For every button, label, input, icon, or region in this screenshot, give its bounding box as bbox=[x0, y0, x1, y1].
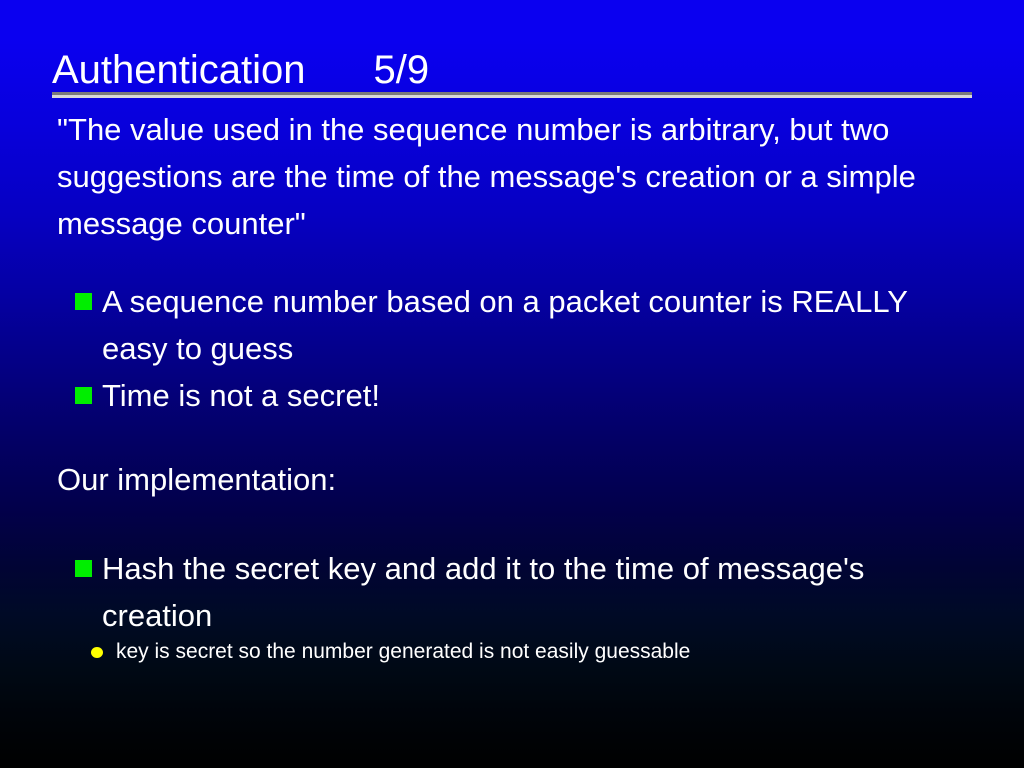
presentation-slide: Authentication 5/9 "The value used in th… bbox=[0, 0, 1024, 768]
list-item-label: key is secret so the number generated is… bbox=[116, 640, 690, 663]
list-item: Time is not a secret! bbox=[60, 372, 940, 419]
list-item: A sequence number based on a packet coun… bbox=[60, 278, 940, 372]
title-divider bbox=[52, 92, 972, 100]
yellow-round-bullet-icon bbox=[91, 647, 103, 658]
list-item: Hash the secret key and add it to the ti… bbox=[60, 545, 960, 639]
bullet-list-implementation: Hash the secret key and add it to the ti… bbox=[60, 545, 960, 639]
slide-title-block: Authentication 5/9 bbox=[52, 48, 972, 92]
section-label: Our implementation: bbox=[57, 458, 336, 502]
list-item-label: A sequence number based on a packet coun… bbox=[102, 278, 940, 372]
divider-bottom-edge bbox=[52, 95, 972, 98]
green-square-bullet-icon bbox=[75, 387, 92, 404]
quote-paragraph: "The value used in the sequence number i… bbox=[57, 106, 969, 247]
list-item-label: Time is not a secret! bbox=[102, 372, 940, 419]
slide-page-indicator: 5/9 bbox=[374, 48, 430, 92]
list-item: key is secret so the number generated is… bbox=[88, 637, 948, 667]
green-square-bullet-icon bbox=[75, 293, 92, 310]
bullet-list-observations: A sequence number based on a packet coun… bbox=[60, 278, 940, 419]
green-square-bullet-icon bbox=[75, 560, 92, 577]
sub-bullet-list: key is secret so the number generated is… bbox=[88, 637, 948, 667]
title-row: Authentication 5/9 bbox=[52, 48, 972, 92]
page-title: Authentication bbox=[52, 48, 306, 92]
list-item-label: Hash the secret key and add it to the ti… bbox=[102, 545, 960, 639]
